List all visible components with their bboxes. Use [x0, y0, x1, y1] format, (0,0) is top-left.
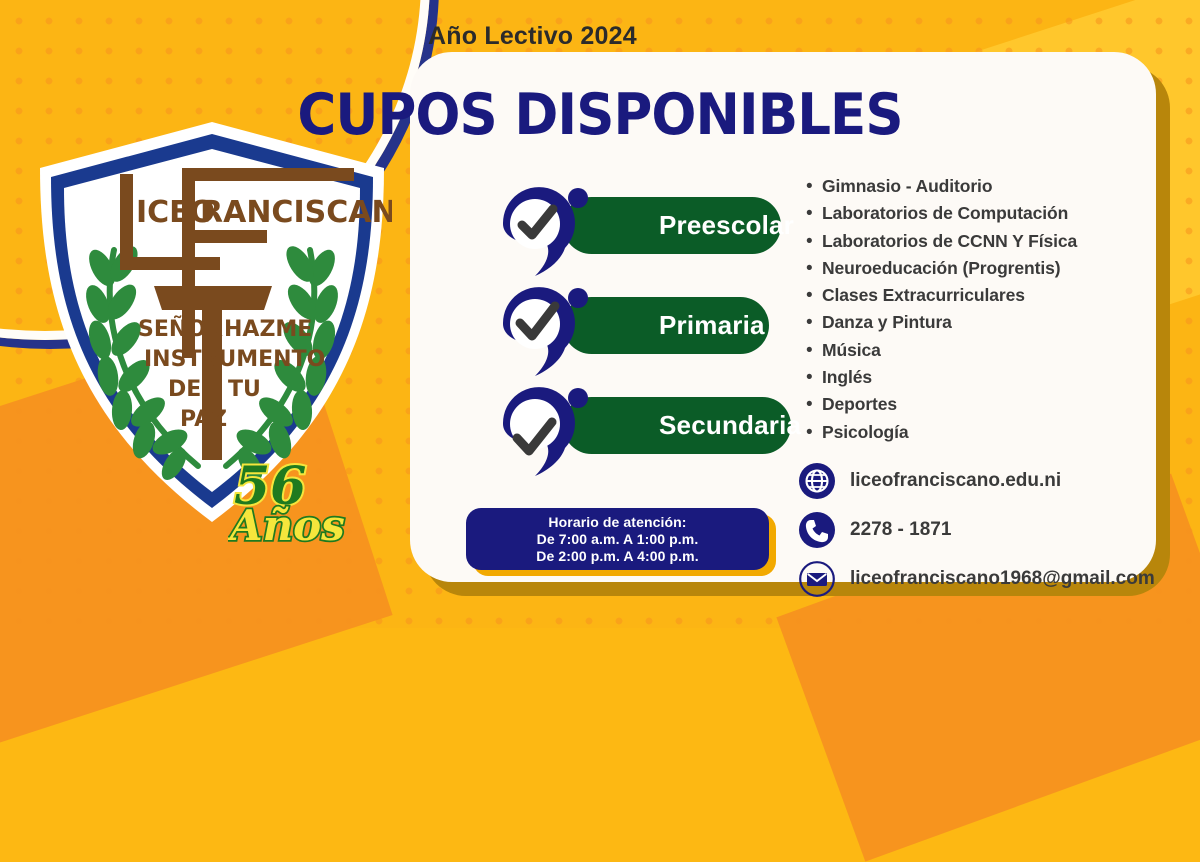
list-item: •Clases Extracurriculares: [806, 285, 1077, 312]
feature-label: Clases Extracurriculares: [822, 285, 1025, 306]
motto-hazme: HAZME: [224, 317, 312, 342]
list-item: •Laboratorios de CCNN Y Física: [806, 231, 1077, 258]
contact-value: 2278 - 1871: [850, 519, 951, 541]
bullet-icon: •: [806, 232, 822, 251]
feature-label: Deportes: [822, 394, 897, 415]
level-pill-primaria[interactable]: Primaria: [563, 297, 769, 354]
crest-name-right: RANCISCANO: [200, 195, 392, 230]
contact-value: liceofranciscano.edu.ni: [850, 470, 1061, 492]
list-item: •Danza y Pintura: [806, 312, 1077, 339]
globe-icon: [798, 462, 836, 500]
motto-senor: SEÑOR: [138, 316, 223, 342]
features-list: •Gimnasio - Auditorio •Laboratorios de C…: [806, 176, 1077, 449]
bullet-icon: •: [806, 368, 822, 387]
feature-label: Neuroeducación (Progrentis): [822, 258, 1060, 279]
feature-label: Psicología: [822, 422, 909, 443]
schedule-line-2: De 2:00 p.m. A 4:00 p.m.: [536, 548, 698, 565]
list-item: •Psicología: [806, 422, 1077, 449]
list-item: •Neuroeducación (Progrentis): [806, 258, 1077, 285]
level-label: Preescolar: [659, 210, 794, 241]
contact-row-phone[interactable]: 2278 - 1871: [798, 507, 1155, 553]
level-pill-preescolar[interactable]: Preescolar: [563, 197, 781, 254]
list-item: •Gimnasio - Auditorio: [806, 176, 1077, 203]
list-item: •Inglés: [806, 367, 1077, 394]
schedule-box: Horario de atención: De 7:00 a.m. A 1:00…: [466, 508, 769, 570]
bullet-icon: •: [806, 259, 822, 278]
feature-label: Laboratorios de Computación: [822, 203, 1068, 224]
feature-label: Danza y Pintura: [822, 312, 952, 333]
accent-dot: [568, 288, 588, 308]
contact-row-website[interactable]: liceofranciscano.edu.ni: [798, 458, 1155, 504]
motto-paz: PAZ: [180, 407, 227, 432]
contact-list: liceofranciscano.edu.ni 2278 - 1871 lice…: [798, 458, 1155, 605]
envelope-icon: [798, 560, 836, 598]
contact-value: liceofranciscano1968@gmail.com: [850, 568, 1155, 590]
bullet-icon: •: [806, 423, 822, 442]
motto-instrumento: INSTRUMENTO: [144, 347, 325, 372]
school-crest-logo: ICEO RANCISCANO SEÑOR HAZME INSTRUMENTO …: [32, 118, 392, 528]
accent-dot: [568, 188, 588, 208]
feature-label: Gimnasio - Auditorio: [822, 176, 992, 197]
list-item: •Laboratorios de Computación: [806, 203, 1077, 230]
bullet-icon: •: [806, 177, 822, 196]
schedule-line-1: De 7:00 a.m. A 1:00 p.m.: [537, 531, 699, 548]
level-label: Primaria: [659, 310, 765, 341]
contact-row-email[interactable]: liceofranciscano1968@gmail.com: [798, 556, 1155, 602]
list-item: •Música: [806, 340, 1077, 367]
feature-label: Laboratorios de CCNN Y Física: [822, 231, 1077, 252]
school-year-label: Año Lectivo 2024: [428, 22, 637, 51]
list-item: •Deportes: [806, 394, 1077, 421]
feature-label: Inglés: [822, 367, 872, 388]
motto-de: DE: [168, 377, 201, 402]
level-label: Secundaria: [659, 410, 801, 441]
schedule-title: Horario de atención:: [548, 514, 686, 531]
bullet-icon: •: [806, 286, 822, 305]
bullet-icon: •: [806, 204, 822, 223]
accent-dot: [568, 388, 588, 408]
phone-icon: [798, 511, 836, 549]
bullet-icon: •: [806, 313, 822, 332]
feature-label: Música: [822, 340, 881, 361]
motto-tu: TU: [228, 377, 261, 402]
bullet-icon: •: [806, 395, 822, 414]
level-pill-secundaria[interactable]: Secundaria: [563, 397, 791, 454]
bullet-icon: •: [806, 341, 822, 360]
